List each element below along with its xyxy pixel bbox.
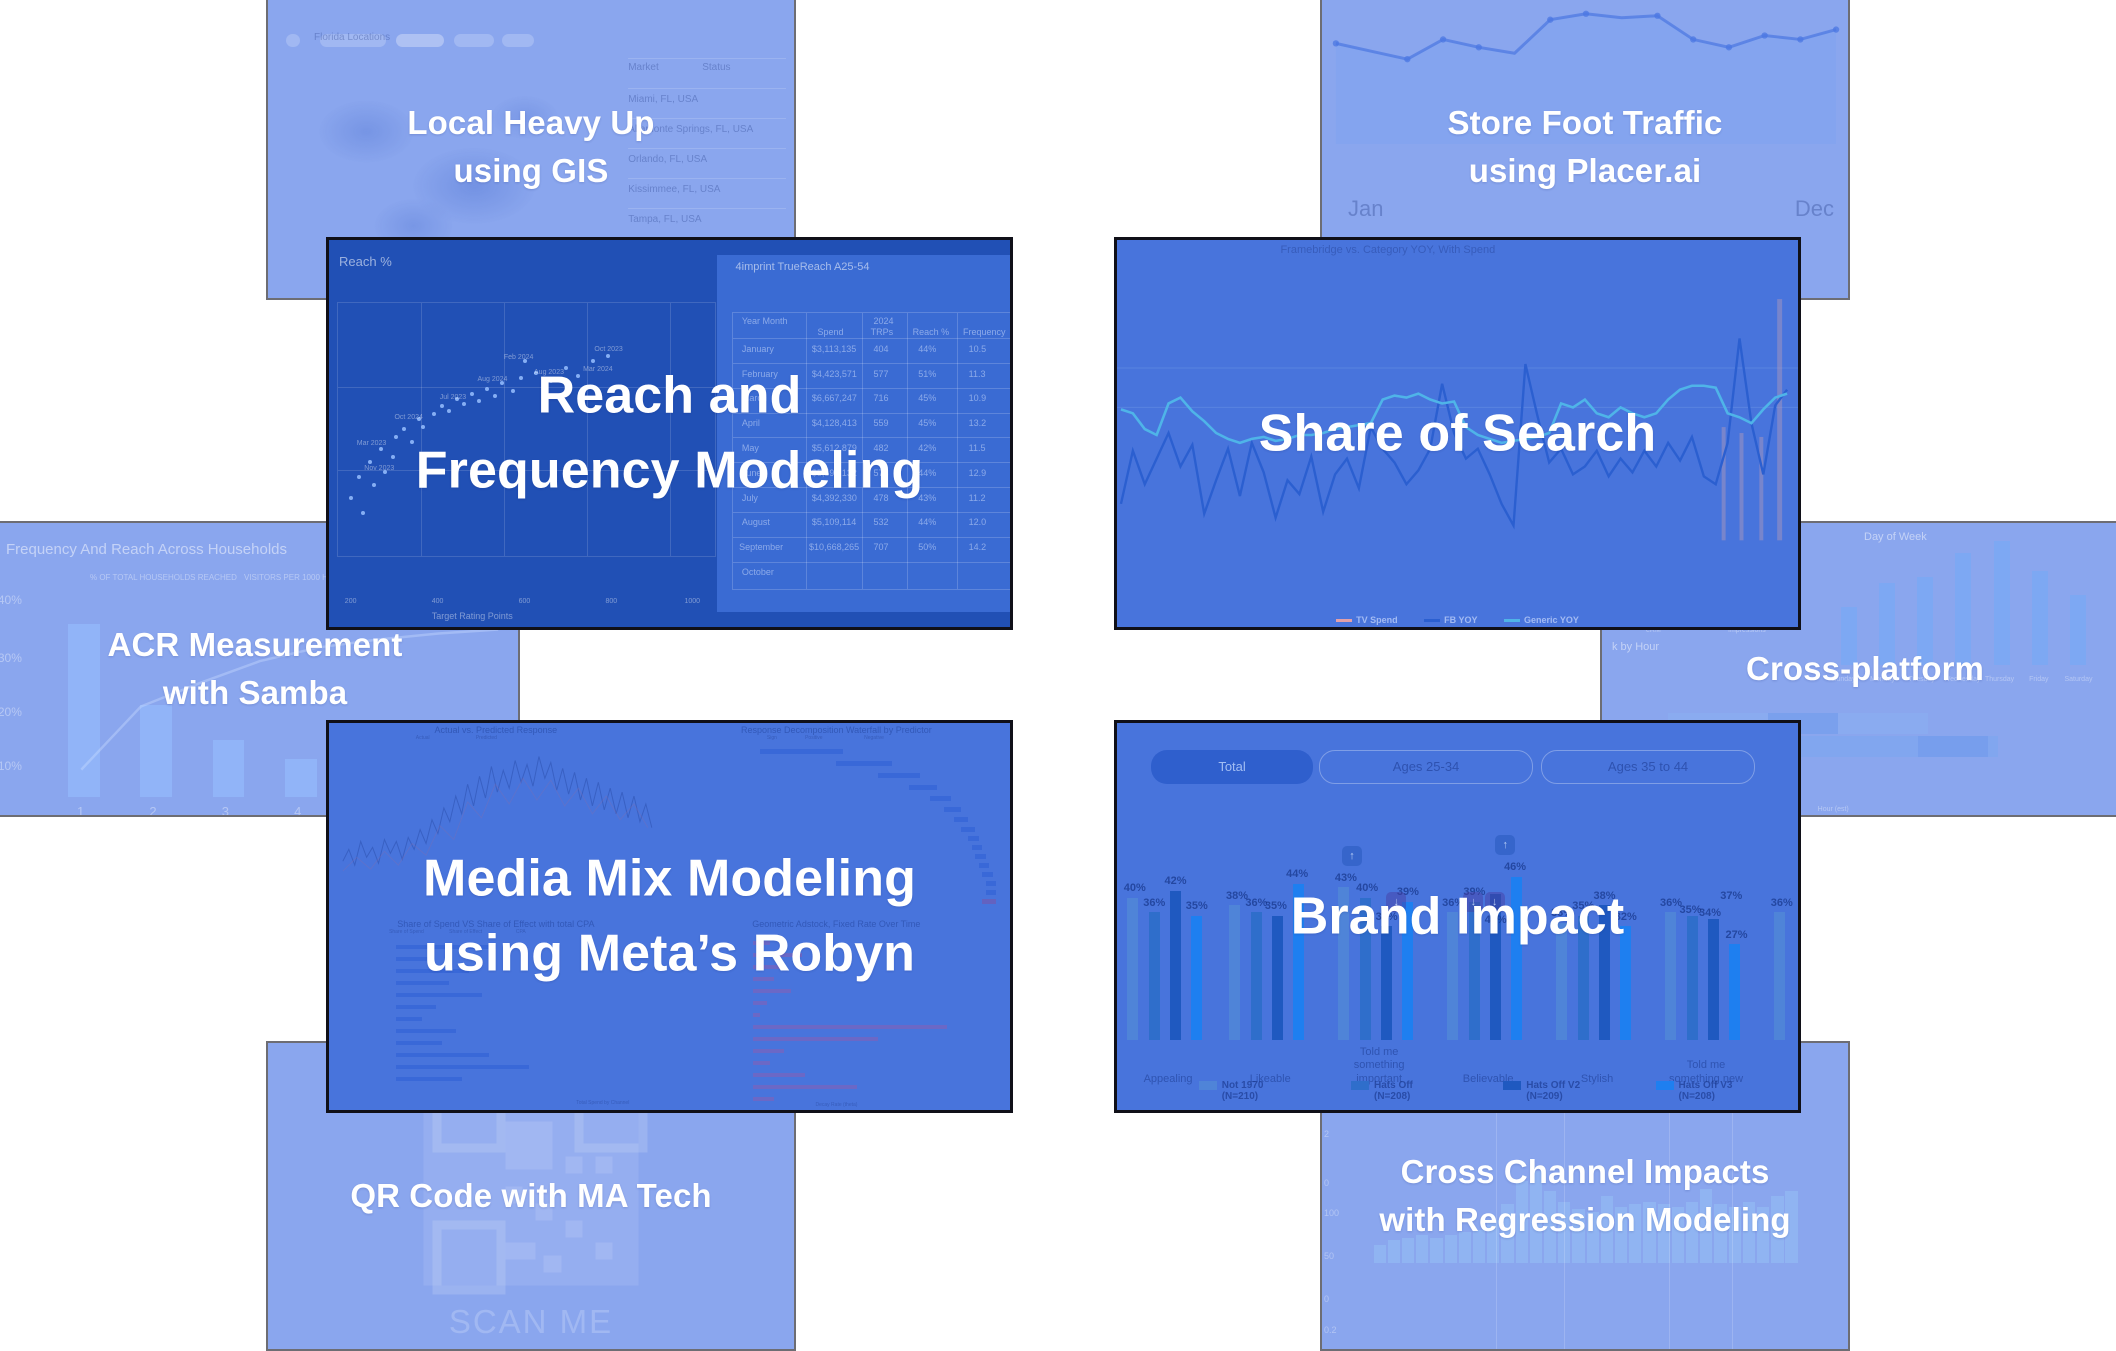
- card-title-cross-platform: Cross-platform: [1602, 645, 2116, 693]
- scatter-x-tick: 200: [345, 598, 357, 605]
- card-title-line1: ACR Measurement: [2, 621, 508, 669]
- sos-x-tick-labels: [1131, 538, 1785, 592]
- table-col-header: TRPs: [871, 327, 894, 337]
- scatter-x-tick: 1000: [684, 598, 700, 605]
- trend-up-icon: ↑: [1342, 846, 1362, 866]
- sos-legend: TV Spend FB YOY Generic YOY: [1117, 615, 1798, 625]
- card-title-brand-impact: Brand Impact: [1117, 879, 1798, 954]
- card-title-acr-measurement-samba: ACR Measurement with Samba: [0, 621, 518, 717]
- card-title-line2: using Meta’s Robyn: [339, 917, 1000, 992]
- card-title-share-of-search: Share of Search: [1117, 396, 1798, 471]
- table-cell: 12.0: [969, 517, 987, 527]
- card-title-line1: Brand Impact: [1127, 879, 1788, 954]
- sos-legend-item-1: TV Spend: [1336, 615, 1398, 625]
- scan-me-label: SCAN ME: [268, 1303, 794, 1341]
- card-brand-impact[interactable]: Total Ages 25-34 Ages 35 to 44 40% 36% 4…: [1114, 720, 1801, 1113]
- card-title-line1: QR Code with MA Tech: [278, 1172, 784, 1220]
- card-title-line1: Cross Channel Impacts: [1332, 1148, 1838, 1196]
- table-cell: 404: [873, 344, 888, 354]
- card-title-qr-code-ma-tech: QR Code with MA Tech: [268, 1172, 794, 1220]
- tab-ages-25-34[interactable]: Ages 25-34: [1319, 750, 1533, 784]
- legend-item-not-1970: Not 1970 (N=210): [1199, 1080, 1264, 1102]
- table-cell: August: [742, 517, 770, 527]
- table-cell: 44%: [918, 517, 936, 527]
- gis-table-col2: Status: [702, 62, 730, 73]
- gis-filter-label: Florida Locations: [314, 32, 390, 43]
- brand-impact-tabs[interactable]: Total Ages 25-34 Ages 35 to 44: [1151, 750, 1784, 784]
- table-cell: 10.5: [969, 344, 987, 354]
- card-title-reach-frequency-modeling: Reach and Frequency Modeling: [329, 358, 1010, 509]
- card-media-mix-modeling-robyn[interactable]: Actual vs. Predicted Response Actual Pre…: [326, 720, 1013, 1113]
- trend-up-icon: ↑: [1495, 835, 1515, 855]
- scatter-x-tick: 400: [432, 598, 444, 605]
- table-col-header: Frequency: [963, 327, 1006, 337]
- table-cell: October: [742, 567, 774, 577]
- scatter-x-tick: 600: [519, 598, 531, 605]
- cc-y-tick: 0: [1324, 1294, 1329, 1304]
- card-title-local-heavy-up-gis: Local Heavy Up using GIS: [268, 99, 794, 195]
- cc-y-tick: 2: [1324, 1129, 1329, 1139]
- collage-stage: Florida Locations Market Status Miami, F…: [0, 0, 2116, 1343]
- table-col-header: Spend: [817, 327, 843, 337]
- hour-axis-label: Hour (est): [1818, 806, 1849, 813]
- sos-legend-item-2: FB YOY: [1424, 615, 1477, 625]
- card-title-line1: Media Mix Modeling: [339, 841, 1000, 916]
- robyn-panel2-legend-3: Negative: [864, 735, 884, 741]
- cc-y-tick: 50: [1324, 1251, 1334, 1261]
- table-cell: 44%: [918, 344, 936, 354]
- scatter-x-tick: 800: [605, 598, 617, 605]
- table-cell: 14.2: [969, 542, 987, 552]
- card-title-line2: with Samba: [2, 669, 508, 717]
- gis-table-row: Tampa, FL, USA: [628, 214, 701, 225]
- legend-item-hats-off: Hats Off (N=208): [1351, 1080, 1413, 1102]
- table-cell: 532: [873, 517, 888, 527]
- scatter-point-label: Oct 2023: [594, 346, 622, 353]
- card-title-line1: Cross-platform: [1612, 645, 2116, 693]
- table-cell: $10,668,265: [809, 542, 859, 552]
- table-cell: $5,109,114: [812, 517, 856, 527]
- tab-ages-35-44[interactable]: Ages 35 to 44: [1541, 750, 1755, 784]
- gis-table-col1: Market: [628, 62, 659, 73]
- table-col-header: Year Month: [742, 316, 788, 326]
- table-cell: 50%: [918, 542, 936, 552]
- table-cell: $3,113,135: [812, 344, 856, 354]
- card-title-line1: Store Foot Traffic: [1332, 99, 1838, 147]
- card-title-line1: Reach and: [339, 358, 1000, 433]
- axis-label-end: Dec: [1795, 196, 1834, 222]
- table-cell: January: [742, 344, 774, 354]
- table-header-group: 2024: [873, 316, 893, 326]
- card-title-media-mix-modeling-robyn: Media Mix Modeling using Meta’s Robyn: [329, 841, 1010, 992]
- card-title-line2: with Regression Modeling: [1332, 1196, 1838, 1244]
- cc-y-tick: 0.2: [1324, 1325, 1337, 1335]
- table-cell: 707: [873, 542, 888, 552]
- card-reach-frequency-modeling[interactable]: Reach %: [326, 237, 1013, 630]
- robyn-panel2-legend-2: Positive: [805, 735, 823, 741]
- robyn-panel4-x-label: Decay Rate (theta): [815, 1102, 857, 1108]
- truereach-table-title: 4imprint TrueReach A25-54: [736, 261, 870, 273]
- card-title-cross-channel-impacts: Cross Channel Impacts with Regression Mo…: [1322, 1148, 1848, 1244]
- robyn-panel2-legend-1: Sign: [767, 735, 777, 741]
- card-title-line2: Frequency Modeling: [339, 434, 1000, 509]
- card-title-line2: using GIS: [278, 147, 784, 195]
- card-title-line1: Share of Search: [1127, 396, 1788, 471]
- scatter-y-axis-label: Reach %: [339, 254, 392, 269]
- card-share-of-search[interactable]: Framebridge vs. Category YOY, With Spend…: [1114, 237, 1801, 630]
- legend-item-hats-off-v2: Hats Off V2 (N=209): [1503, 1080, 1580, 1102]
- robyn-panel3-x-label: Total Spend by Channel: [576, 1100, 629, 1106]
- scatter-x-axis-label: Target Rating Points: [432, 611, 513, 621]
- table-cell: September: [739, 542, 783, 552]
- card-title-line2: using Placer.ai: [1332, 147, 1838, 195]
- robyn-panel-title: Response Decomposition Waterfall by Pred…: [663, 725, 1010, 735]
- sos-legend-item-3: Generic YOY: [1504, 615, 1579, 625]
- tab-total[interactable]: Total: [1151, 750, 1313, 784]
- card-title-line1: Local Heavy Up: [278, 99, 784, 147]
- table-col-header: Reach %: [913, 327, 950, 337]
- legend-item-hats-off-v3: Hats Off V3 (N=208): [1656, 1080, 1733, 1102]
- axis-label-start: Jan: [1348, 196, 1383, 222]
- card-title-store-foot-traffic: Store Foot Traffic using Placer.ai: [1322, 99, 1848, 195]
- brand-impact-legend: Not 1970 (N=210) Hats Off (N=208) Hats O…: [1199, 1080, 1785, 1110]
